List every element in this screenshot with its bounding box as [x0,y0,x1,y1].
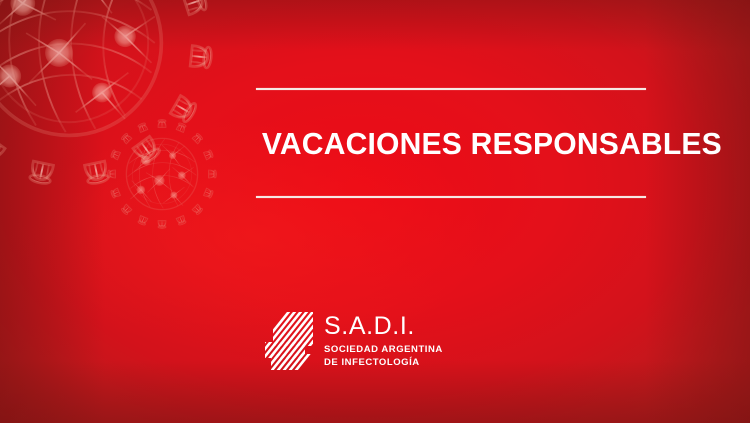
sadi-stripes-icon [261,312,313,370]
title-block: VACACIONES RESPONSABLES [256,88,646,198]
sadi-subtitle-line1: SOCIEDAD ARGENTINA [324,344,443,357]
title-rule-top [256,88,646,90]
sadi-logo-text: S.A.D.I. SOCIEDAD ARGENTINA DE INFECTOLO… [324,312,443,369]
title-slide: VACACIONES RESPONSABLES [0,0,750,423]
sadi-acronym: S.A.D.I. [324,314,443,339]
page-title: VACACIONES RESPONSABLES [262,111,640,175]
sadi-logo: S.A.D.I. SOCIEDAD ARGENTINA DE INFECTOLO… [261,312,443,370]
sadi-subtitle-line2: DE INFECTOLOGÍA [324,357,443,370]
title-rule-bottom [256,196,646,198]
